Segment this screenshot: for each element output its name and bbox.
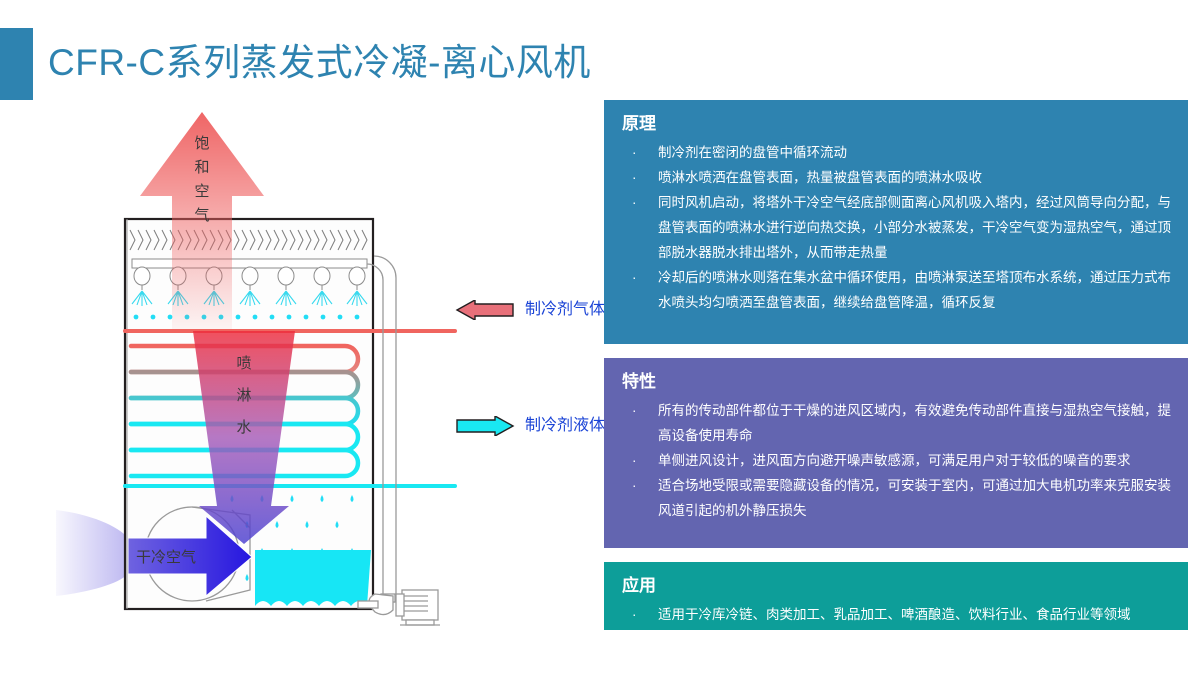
title-accent-bar	[0, 28, 33, 100]
svg-text:和: 和	[194, 159, 209, 176]
spray-water-label: 喷	[236, 355, 251, 372]
panel-principle-heading: 原理	[622, 112, 1172, 136]
evaporative-condenser-diagram: 干冷空气 饱 和 空 气 喷 淋 水	[0, 96, 604, 656]
list-item: ·喷淋水喷洒在盘管表面，热量被盘管表面的喷淋水吸收	[620, 165, 1172, 190]
left-arrow-icon	[455, 300, 517, 320]
page-title: CFR-C系列蒸发式冷凝-离心风机	[48, 34, 591, 92]
list-item: ·同时风机启动，将塔外干冷空气经底部侧面离心风机吸入塔内，经过风筒导向分配，与盘…	[620, 190, 1172, 265]
list-item-text: 适用于冷库冷链、肉类加工、乳品加工、啤酒酿造、饮料行业、食品行业等领域	[658, 607, 1131, 622]
bullet-dot: ·	[632, 398, 637, 423]
svg-text:淋: 淋	[236, 387, 251, 404]
svg-text:空: 空	[194, 183, 209, 200]
bullet-dot: ·	[632, 140, 637, 165]
list-item-text: 单侧进风设计，进风面方向避开噪声敏感源，可满足用户对于较低的噪音的要求	[658, 453, 1131, 468]
list-item-text: 喷淋水喷洒在盘管表面，热量被盘管表面的喷淋水吸收	[658, 170, 982, 185]
list-item: ·适用于冷库冷链、肉类加工、乳品加工、啤酒酿造、饮料行业、食品行业等领域	[620, 602, 1172, 627]
svg-text:水: 水	[236, 419, 251, 436]
panel-features-list: ·所有的传动部件都位于干燥的进风区域内，有效避免传动部件直接与湿热空气接触，提高…	[620, 398, 1172, 523]
list-item-text: 冷却后的喷淋水则落在集水盆中循环使用，由喷淋泵送至塔顶布水系统，通过压力式布水喷…	[658, 270, 1171, 310]
saturated-air-label: 饱	[194, 135, 209, 152]
bullet-dot: ·	[632, 602, 637, 627]
bullet-dot: ·	[632, 190, 637, 215]
panel-applications-heading: 应用	[622, 574, 1172, 598]
right-arrow-icon	[455, 416, 517, 436]
panel-applications: 应用 ·适用于冷库冷链、肉类加工、乳品加工、啤酒酿造、饮料行业、食品行业等领域	[604, 562, 1188, 630]
list-item: ·所有的传动部件都位于干燥的进风区域内，有效避免传动部件直接与湿热空气接触，提高…	[620, 398, 1172, 448]
panel-features-heading: 特性	[622, 370, 1172, 394]
slide-root: CFR-C系列蒸发式冷凝-离心风机	[0, 0, 1200, 675]
svg-text:气: 气	[194, 207, 209, 224]
panel-principle: 原理 ·制冷剂在密闭的盘管中循环流动 ·喷淋水喷洒在盘管表面，热量被盘管表面的喷…	[604, 100, 1188, 344]
list-item: ·冷却后的喷淋水则落在集水盆中循环使用，由喷淋泵送至塔顶布水系统，通过压力式布水…	[620, 265, 1172, 315]
list-item: ·单侧进风设计，进风面方向避开噪声敏感源，可满足用户对于较低的噪音的要求	[620, 448, 1172, 473]
bullet-dot: ·	[632, 165, 637, 190]
panel-principle-list: ·制冷剂在密闭的盘管中循环流动 ·喷淋水喷洒在盘管表面，热量被盘管表面的喷淋水吸…	[620, 140, 1172, 315]
list-item-text: 同时风机启动，将塔外干冷空气经底部侧面离心风机吸入塔内，经过风筒导向分配，与盘管…	[658, 195, 1171, 260]
list-item-text: 所有的传动部件都位于干燥的进风区域内，有效避免传动部件直接与湿热空气接触，提高设…	[658, 403, 1171, 443]
dry-cold-air-label: 干冷空气	[136, 549, 196, 566]
bullet-dot: ·	[632, 265, 637, 290]
list-item-text: 适合场地受限或需要隐藏设备的情况，可安装于室内，可通过加大电机功率来克服安装风道…	[658, 478, 1171, 518]
bullet-dot: ·	[632, 448, 637, 473]
list-item-text: 制冷剂在密闭的盘管中循环流动	[658, 145, 847, 160]
bullet-dot: ·	[632, 473, 637, 498]
list-item: ·制冷剂在密闭的盘管中循环流动	[620, 140, 1172, 165]
intake-air-stream-icon	[56, 510, 128, 596]
panel-features: 特性 ·所有的传动部件都位于干燥的进风区域内，有效避免传动部件直接与湿热空气接触…	[604, 358, 1188, 548]
list-item: ·适合场地受限或需要隐藏设备的情况，可安装于室内，可通过加大电机功率来克服安装风…	[620, 473, 1172, 523]
panel-applications-list: ·适用于冷库冷链、肉类加工、乳品加工、啤酒酿造、饮料行业、食品行业等领域	[620, 602, 1172, 627]
